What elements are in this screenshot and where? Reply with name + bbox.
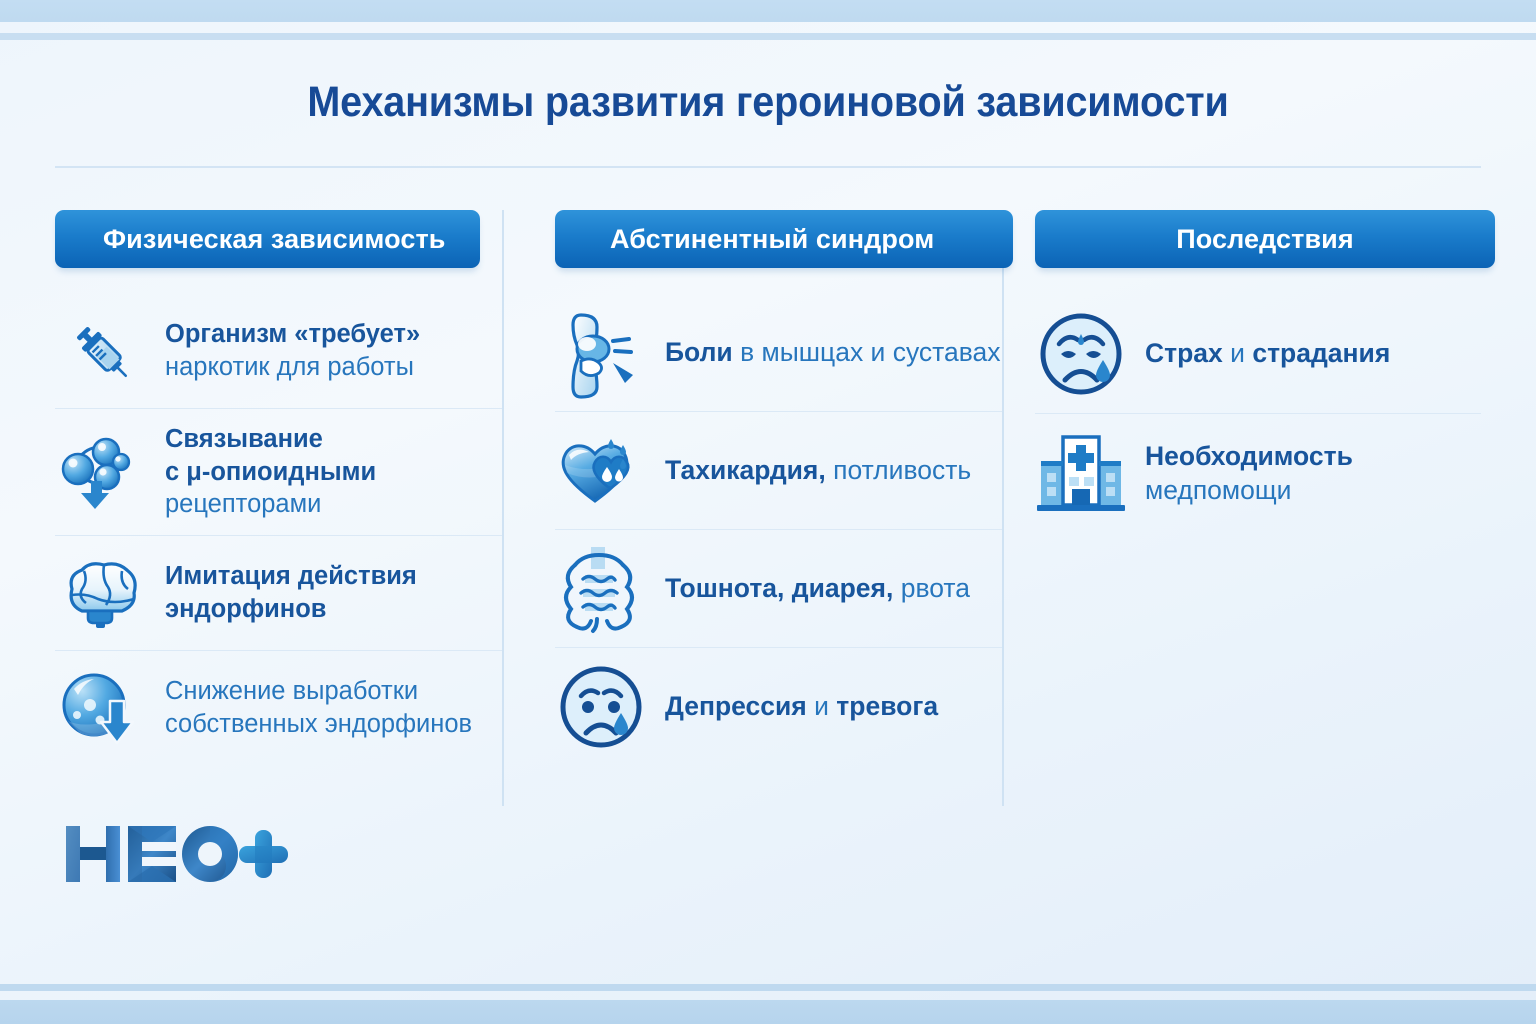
list-item-line: Боли bbox=[665, 337, 740, 367]
list-item[interactable]: Боли в мышцах и суставах bbox=[555, 294, 1002, 412]
list-item[interactable]: Снижение выработки собственных эндорфино… bbox=[55, 651, 502, 765]
list-item-text: Тошнота, диарея, рвота bbox=[665, 572, 970, 606]
column-header-2: Абстинентный синдром bbox=[555, 210, 1013, 268]
list-item-line: Организм «требует» bbox=[165, 318, 420, 351]
list-item-line: Необходимость bbox=[1145, 440, 1353, 474]
list-item-line: Имитация действия bbox=[165, 560, 417, 593]
list-item-text: Депрессия и тревога bbox=[665, 690, 938, 724]
column-withdrawal-syndrome: Абстинентный синдром bbox=[502, 210, 1002, 810]
syringe-icon bbox=[55, 305, 147, 397]
list-item-line: эндорфинов bbox=[165, 593, 417, 626]
column-header-2-label: Абстинентный синдром bbox=[610, 224, 934, 255]
list-item[interactable]: Тахикардия, потливость bbox=[555, 412, 1002, 530]
list-item-line: потливость bbox=[833, 455, 971, 485]
list-item-line: в мышцах и суставах bbox=[740, 337, 1000, 367]
list-item-text: Связывание с μ-опиоидными рецепторами bbox=[165, 423, 376, 521]
list-item-line: собственных эндорфинов bbox=[165, 708, 472, 741]
top-decorative-band bbox=[0, 0, 1536, 22]
brand-logo[interactable] bbox=[62, 820, 292, 890]
infographic-slide: Механизмы развития героиновой зависимост… bbox=[0, 0, 1536, 1024]
list-item-line: и bbox=[814, 691, 836, 721]
knee-joint-pain-icon bbox=[555, 307, 647, 399]
list-item-line: Тахикардия, bbox=[665, 455, 833, 485]
list-item-line: Страх bbox=[1145, 338, 1230, 368]
columns-container: Физическая зависимость bbox=[55, 210, 1481, 810]
list-item-line: медпомощи bbox=[1145, 474, 1353, 508]
list-item-text: Страх и страдания bbox=[1145, 337, 1390, 371]
column-header-3: Последствия bbox=[1035, 210, 1495, 268]
list-item-line: с μ-опиоидными bbox=[165, 456, 376, 489]
intestines-icon bbox=[555, 543, 647, 635]
sphere-down-arrow-icon bbox=[55, 662, 147, 754]
top-rule bbox=[0, 33, 1536, 40]
list-item-line: рецепторами bbox=[165, 488, 376, 521]
sad-face-tear-icon bbox=[555, 661, 647, 753]
list-item-line: тревога bbox=[836, 691, 938, 721]
column-physical-dependence: Физическая зависимость bbox=[55, 210, 502, 810]
page-title: Механизмы развития героиновой зависимост… bbox=[61, 78, 1474, 127]
list-item[interactable]: Организм «требует» наркотик для работы bbox=[55, 294, 502, 409]
list-item[interactable]: Связывание с μ-опиоидными рецепторами bbox=[55, 409, 502, 536]
crying-face-icon bbox=[1035, 308, 1127, 400]
hospital-icon bbox=[1035, 428, 1127, 520]
list-item-line: и bbox=[1230, 338, 1252, 368]
molecule-receptor-icon bbox=[55, 426, 147, 518]
list-item-line: страдания bbox=[1252, 338, 1390, 368]
column-header-3-label: Последствия bbox=[1176, 224, 1353, 255]
list-item-text: Имитация действия эндорфинов bbox=[165, 560, 417, 625]
list-item-text: Организм «требует» наркотик для работы bbox=[165, 318, 420, 383]
heart-sweat-icon bbox=[555, 425, 647, 517]
list-item[interactable]: Необходимость медпомощи bbox=[1035, 414, 1481, 534]
logo-neo-plus-icon bbox=[62, 820, 292, 890]
column-2-items: Боли в мышцах и суставах bbox=[555, 294, 1002, 766]
list-item[interactable]: Тошнота, диарея, рвота bbox=[555, 530, 1002, 648]
list-item-line: Связывание bbox=[165, 423, 376, 456]
list-item-line: Снижение выработки bbox=[165, 675, 472, 708]
list-item-text: Тахикардия, потливость bbox=[665, 454, 971, 488]
column-header-1: Физическая зависимость bbox=[55, 210, 480, 268]
list-item-text: Снижение выработки собственных эндорфино… bbox=[165, 675, 472, 740]
list-item[interactable]: Страх и страдания bbox=[1035, 294, 1481, 414]
list-item-line: Депрессия bbox=[665, 691, 814, 721]
column-3-items: Страх и страдания bbox=[1035, 294, 1481, 534]
column-consequences: Последствия bbox=[1002, 210, 1481, 810]
list-item-line: Тошнота, диарея, bbox=[665, 573, 901, 603]
bottom-rule bbox=[0, 984, 1536, 991]
list-item[interactable]: Депрессия и тревога bbox=[555, 648, 1002, 766]
list-item-line: наркотик для работы bbox=[165, 351, 420, 384]
column-header-1-label: Физическая зависимость bbox=[103, 224, 445, 255]
list-item[interactable]: Имитация действия эндорфинов bbox=[55, 536, 502, 651]
list-item-line: рвота bbox=[901, 573, 970, 603]
list-item-text: Боли в мышцах и суставах bbox=[665, 336, 1001, 370]
title-divider bbox=[55, 166, 1481, 168]
column-1-items: Организм «требует» наркотик для работы bbox=[55, 294, 502, 765]
bottom-decorative-band bbox=[0, 1000, 1536, 1024]
brain-icon bbox=[55, 547, 147, 639]
list-item-text: Необходимость медпомощи bbox=[1145, 440, 1353, 508]
